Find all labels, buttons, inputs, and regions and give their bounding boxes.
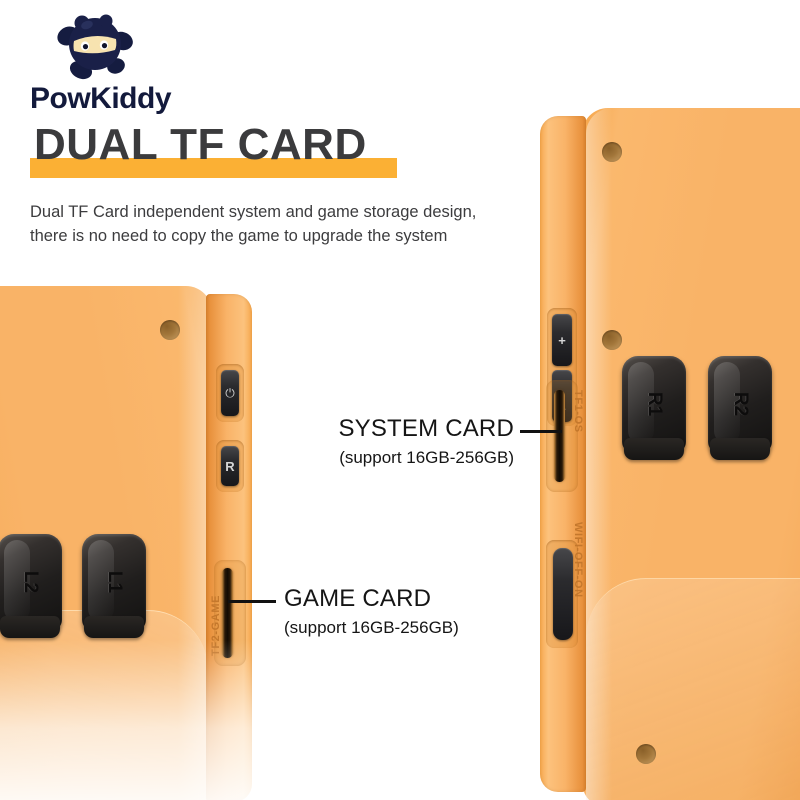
brand-logo: PowKiddy — [30, 8, 230, 113]
callout-system-card: SYSTEM CARD (support 16GB-256GB) — [248, 415, 514, 468]
trigger-button-l2[interactable]: L2 — [0, 534, 62, 630]
leader-line-game-card — [228, 600, 276, 603]
subtitle: Dual TF Card independent system and game… — [30, 200, 560, 248]
trigger-button-r2[interactable]: R2 — [708, 356, 772, 452]
tf2-game-slot-label: TF2-GAME — [210, 595, 222, 656]
leader-line-system-card — [520, 430, 562, 433]
callout-game-card-support: (support 16GB-256GB) — [284, 618, 554, 638]
trigger-lip — [710, 438, 770, 460]
trigger-label-l1: L1 — [66, 550, 162, 614]
tf1-os-card-slot[interactable] — [554, 390, 565, 482]
subtitle-line-2: there is no need to copy the game to upg… — [30, 224, 560, 248]
product-feature-image: PowKiddy DUAL TF CARD Dual TF Card indep… — [0, 0, 800, 800]
tf2-game-card-slot[interactable] — [222, 568, 233, 658]
screw-hole — [636, 744, 656, 764]
console-grip-ridge — [586, 578, 800, 800]
trigger-button-l1[interactable]: L1 — [82, 534, 146, 630]
trigger-lip — [0, 616, 60, 638]
subtitle-line-1: Dual TF Card independent system and game… — [30, 200, 560, 224]
handheld-console-right: + – TF1-OS WIFI-OFF-ON R1 R2 — [540, 108, 800, 800]
callout-system-card-support: (support 16GB-256GB) — [248, 448, 514, 468]
trigger-label-r1: R1 — [606, 372, 702, 436]
wifi-switch-label: WIFI-OFF-ON — [572, 522, 584, 598]
trigger-button-r1[interactable]: R1 — [622, 356, 686, 452]
wifi-switch[interactable] — [553, 548, 573, 640]
trigger-label-r2: R2 — [692, 372, 788, 436]
power-button[interactable]: ⏻ — [221, 370, 239, 416]
callout-game-card-title: GAME CARD — [284, 585, 554, 613]
trigger-lip — [624, 438, 684, 460]
screw-hole — [602, 330, 622, 350]
trigger-lip — [84, 616, 144, 638]
title-text: DUAL TF CARD — [34, 122, 367, 168]
volume-up-button[interactable]: + — [552, 314, 572, 366]
volume-up-label: + — [552, 314, 572, 366]
handheld-console-left: ⏻ R TF2-GAME L2 L1 — [0, 272, 260, 800]
screw-hole — [602, 142, 622, 162]
reset-button[interactable]: R — [221, 446, 239, 486]
callout-system-card-title: SYSTEM CARD — [248, 415, 514, 443]
brand-name: PowKiddy — [30, 82, 171, 116]
page-title: DUAL TF CARD — [30, 122, 590, 178]
power-icon: ⏻ — [221, 370, 239, 416]
ninja-mascot-icon — [48, 8, 140, 84]
callout-game-card: GAME CARD (support 16GB-256GB) — [284, 585, 554, 638]
screw-hole — [160, 320, 180, 340]
tf1-os-slot-label: TF1-OS — [572, 390, 584, 433]
reset-label: R — [221, 446, 239, 486]
console-grip-ridge — [0, 610, 208, 800]
